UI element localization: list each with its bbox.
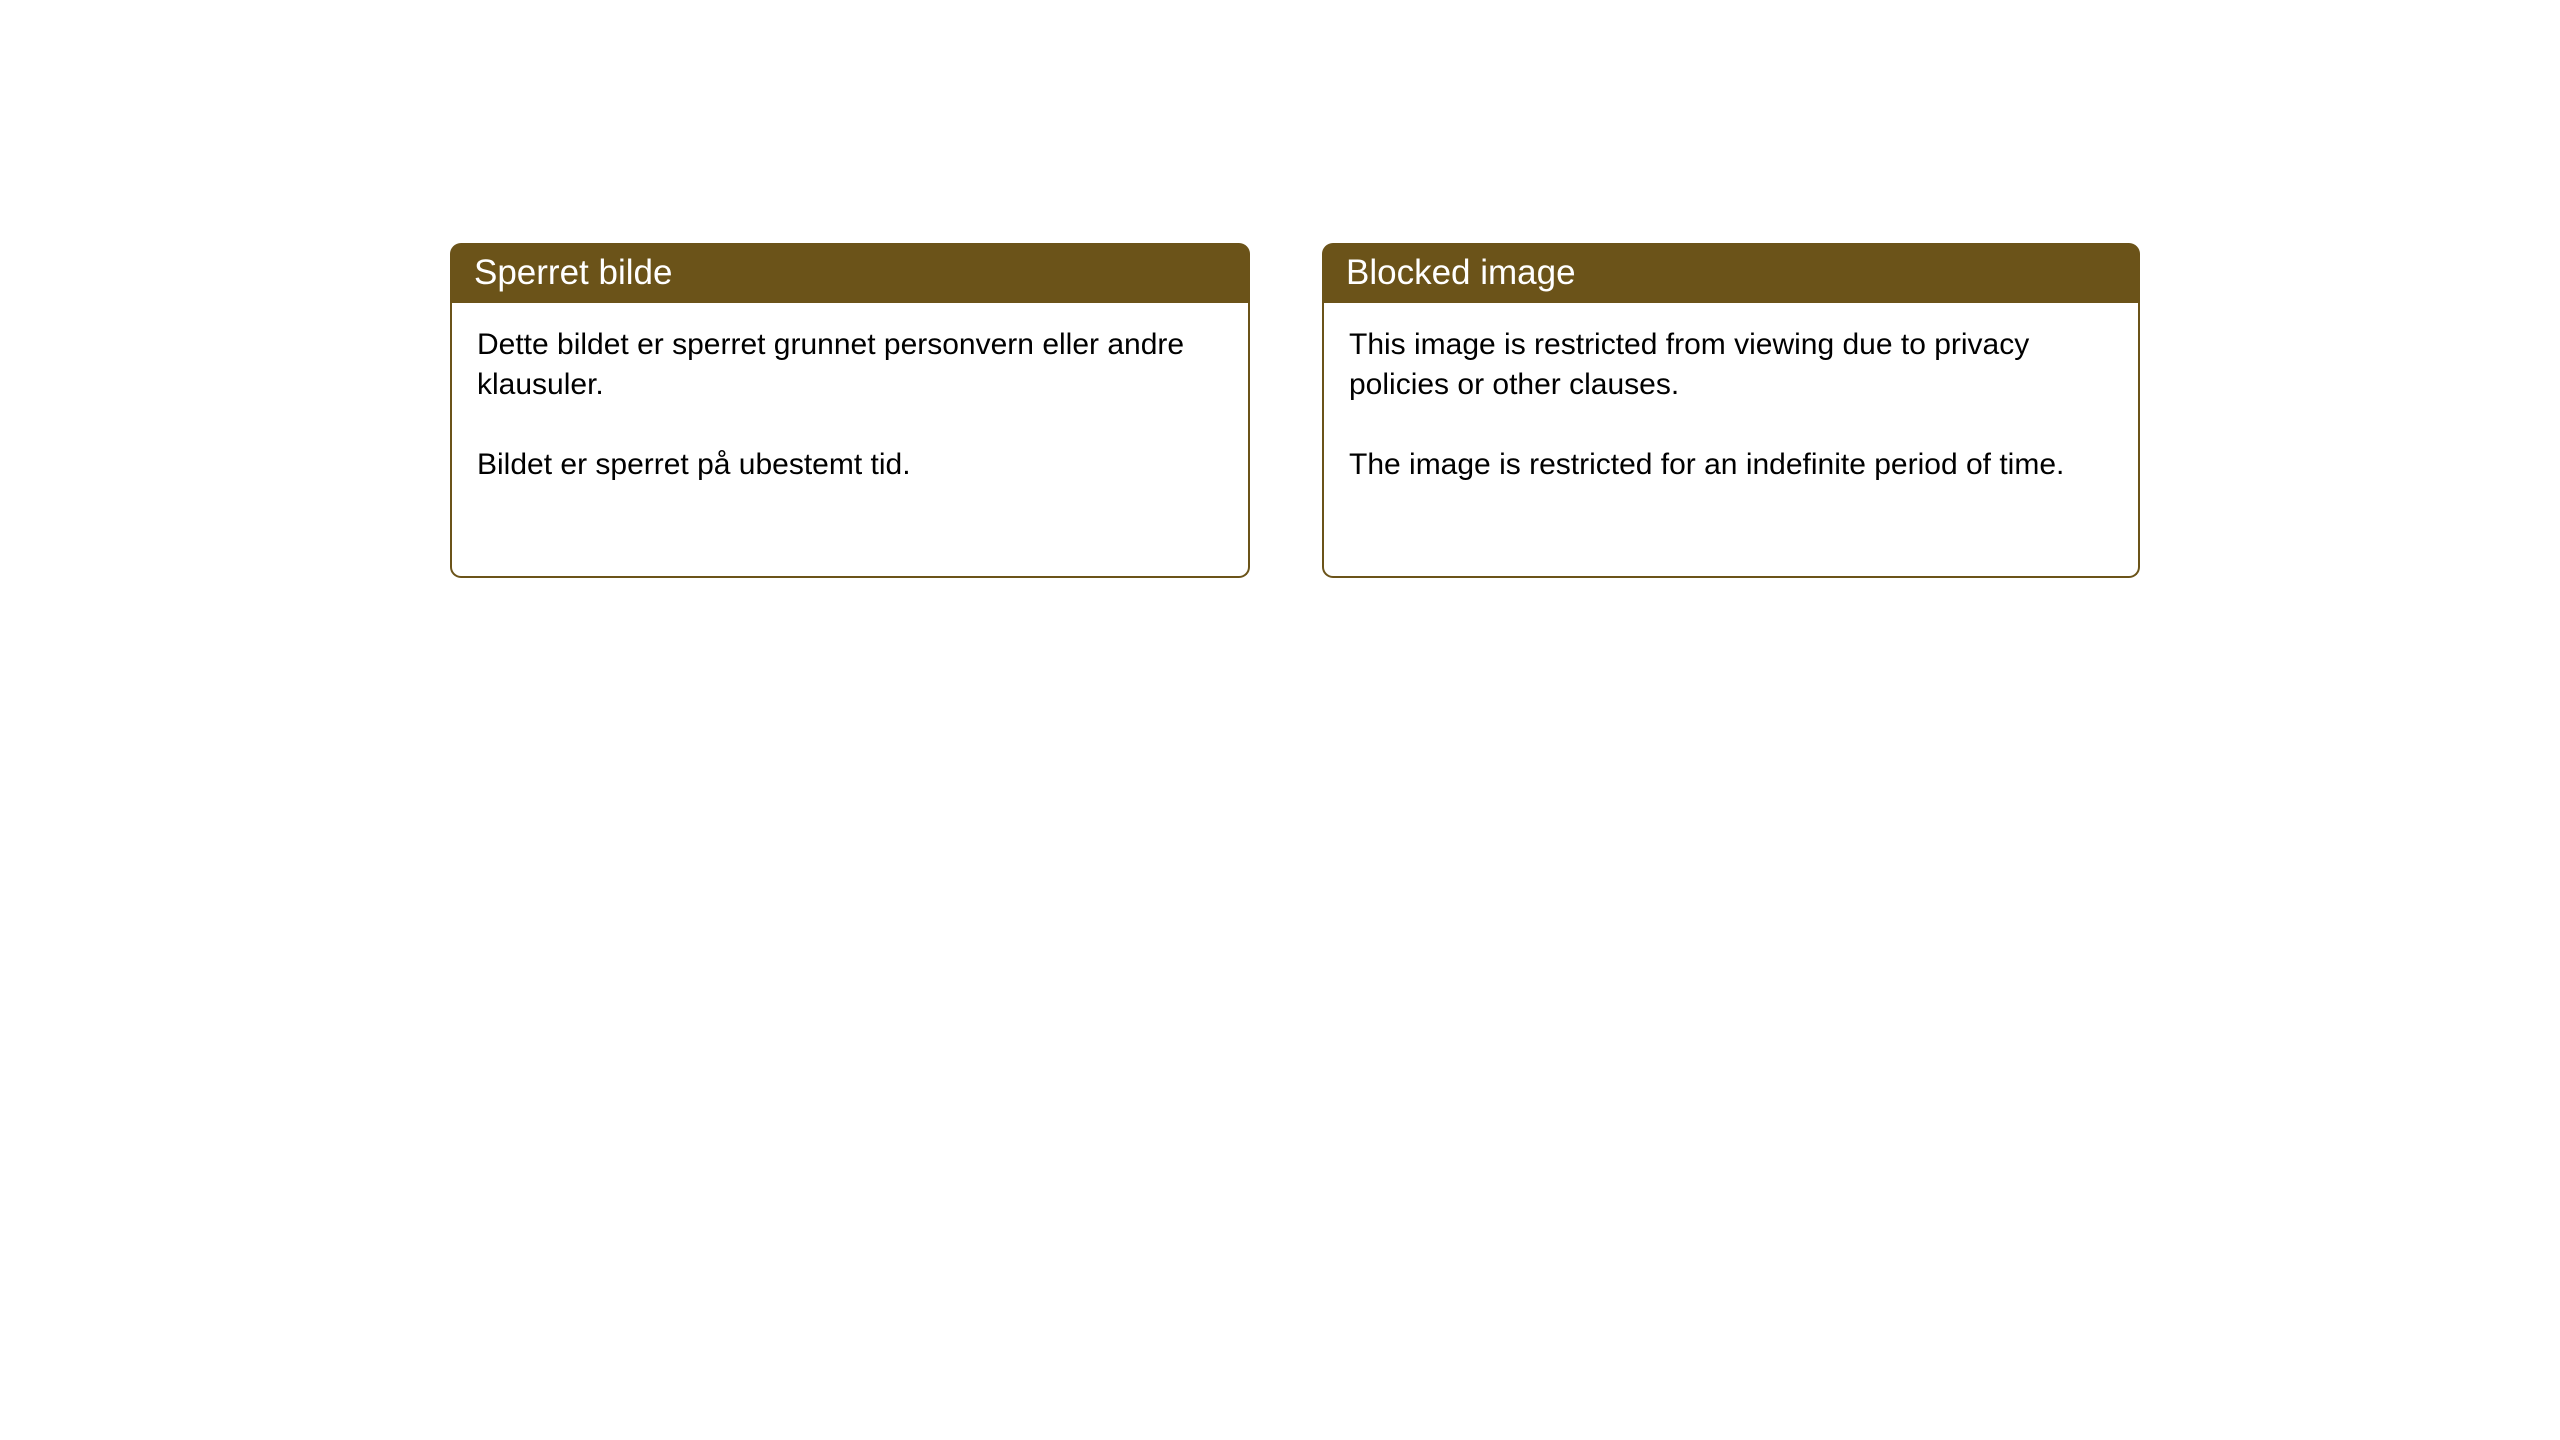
card-paragraph-primary-norwegian: Dette bildet er sperret grunnet personve…	[477, 325, 1228, 405]
paragraph-spacer	[1349, 405, 2118, 445]
blocked-image-notice-norwegian: Sperret bilde Dette bildet er sperret gr…	[450, 243, 1250, 578]
blocked-image-notice-english: Blocked image This image is restricted f…	[1322, 243, 2140, 578]
card-paragraph-primary-english: This image is restricted from viewing du…	[1349, 325, 2118, 405]
page-canvas: Sperret bilde Dette bildet er sperret gr…	[0, 0, 2560, 1440]
card-header-english: Blocked image	[1322, 243, 2140, 303]
paragraph-spacer	[477, 405, 1228, 445]
card-title-english: Blocked image	[1346, 253, 1576, 293]
card-body-norwegian: Dette bildet er sperret grunnet personve…	[450, 303, 1250, 578]
card-body-english: This image is restricted from viewing du…	[1322, 303, 2140, 578]
card-header-norwegian: Sperret bilde	[450, 243, 1250, 303]
card-paragraph-secondary-norwegian: Bildet er sperret på ubestemt tid.	[477, 445, 1228, 485]
card-title-norwegian: Sperret bilde	[474, 253, 672, 293]
card-paragraph-secondary-english: The image is restricted for an indefinit…	[1349, 445, 2118, 485]
